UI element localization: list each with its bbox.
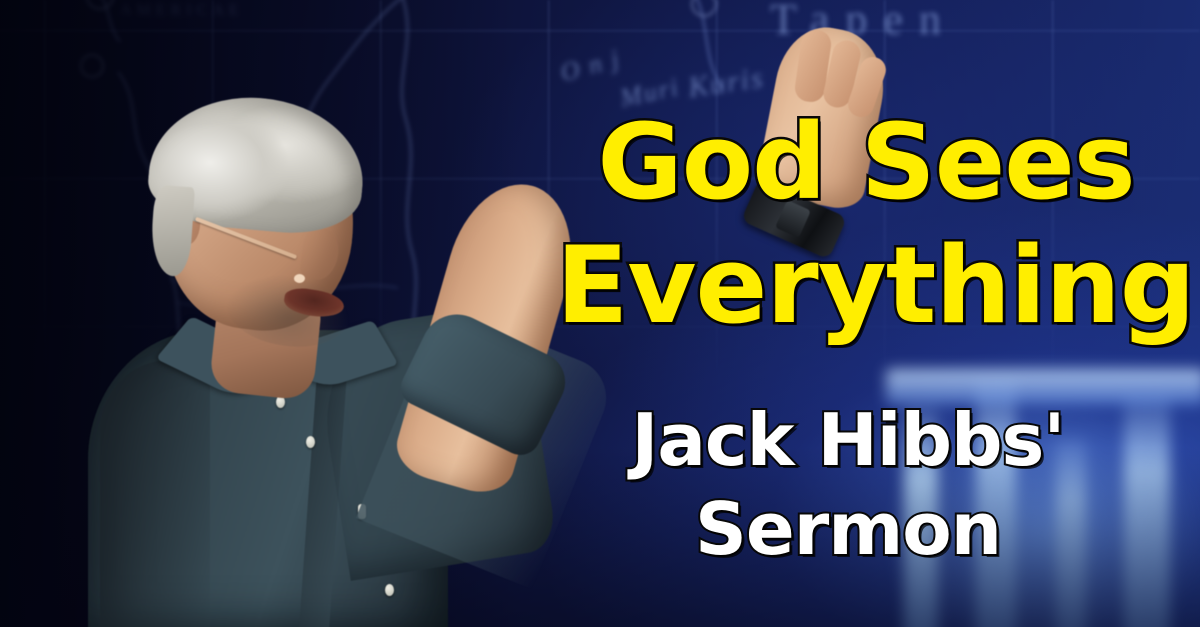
thumbnail-title: God Sees Everything [556, 112, 1176, 338]
title-line-1: God Sees [556, 112, 1176, 214]
subtitle-line-1: Jack Hibbs' [560, 404, 1136, 477]
title-line-2: Everything [556, 234, 1176, 338]
subtitle-line-2: Sermon [560, 493, 1136, 566]
text-overlay: God Sees Everything Jack Hibbs' Sermon [0, 0, 1200, 627]
video-thumbnail: AMERICAE Tapen Kuris Muri Onj antiq [0, 0, 1200, 627]
thumbnail-subtitle: Jack Hibbs' Sermon [560, 404, 1136, 567]
